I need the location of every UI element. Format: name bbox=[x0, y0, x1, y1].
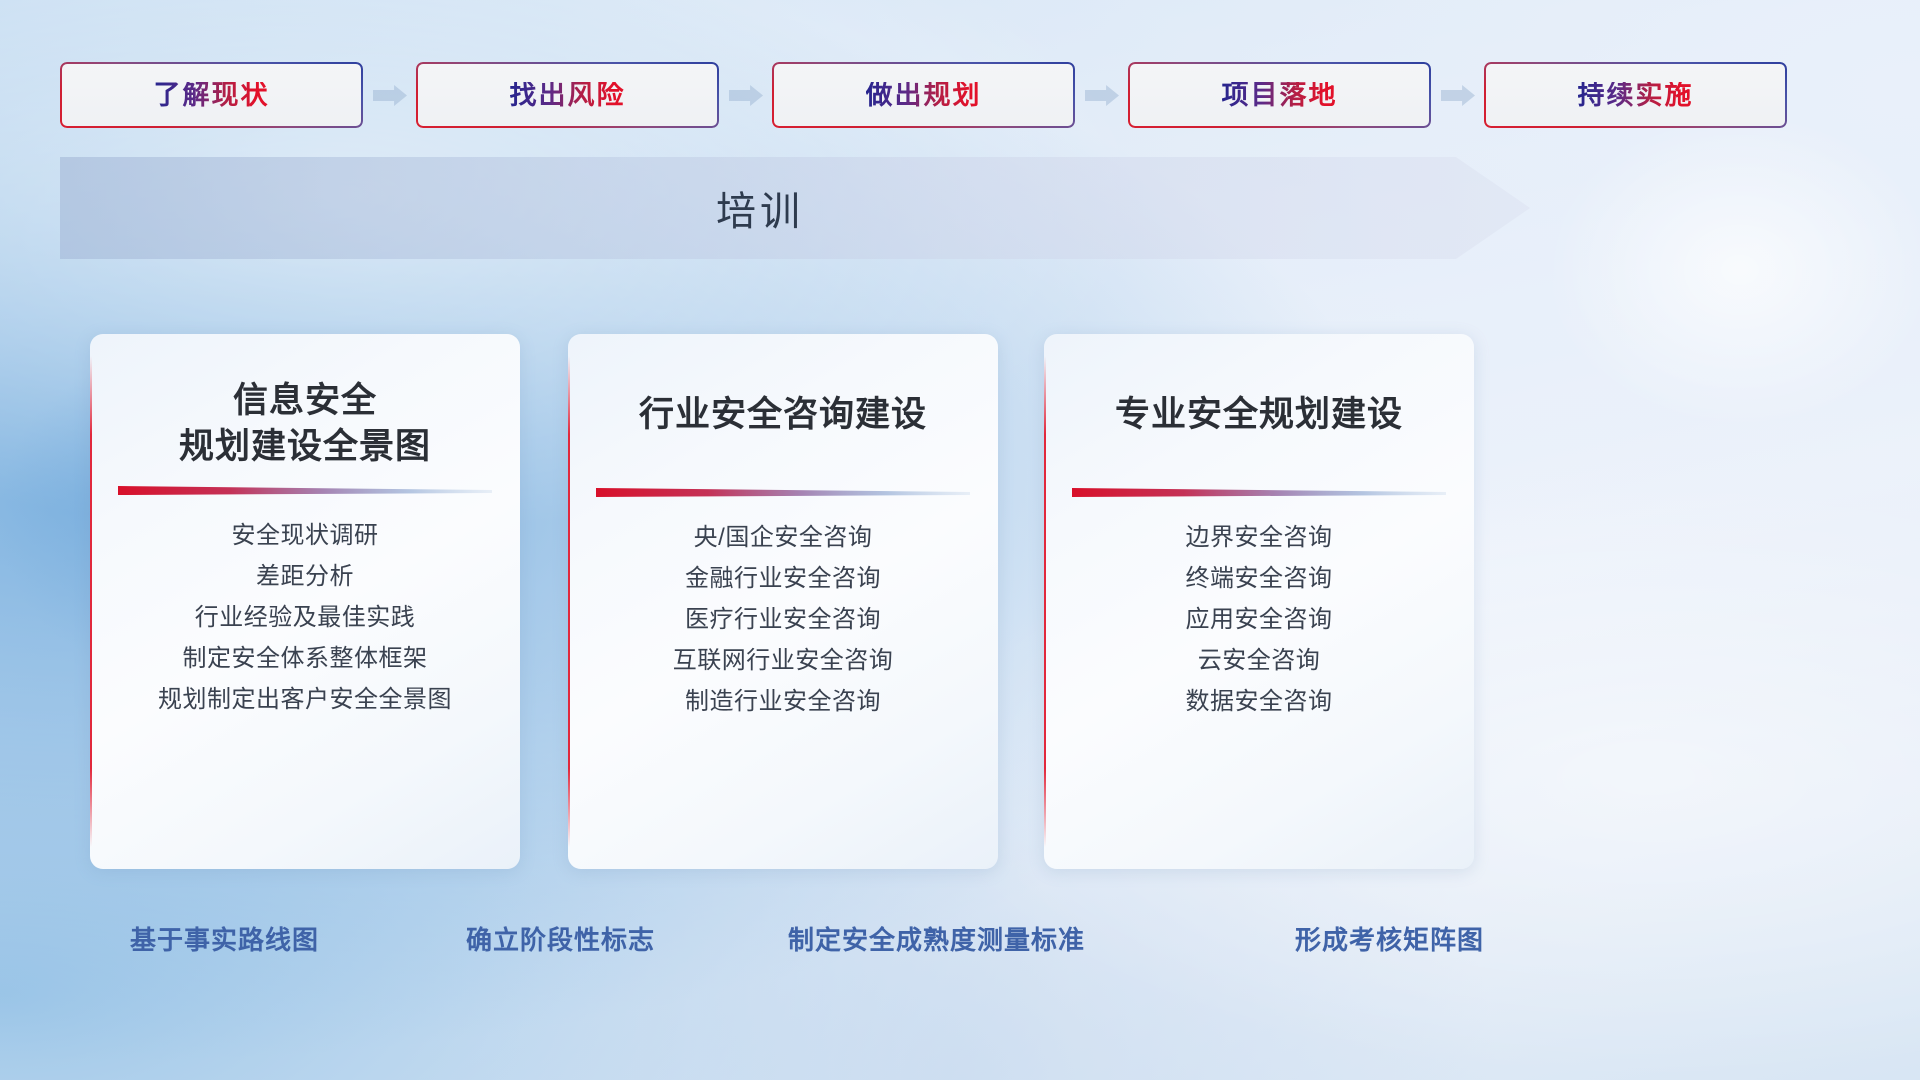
process-step-1[interactable]: 找出风险 bbox=[416, 62, 719, 128]
card-industry-security-consulting[interactable]: 行业安全咨询建设 央/国 bbox=[568, 334, 998, 869]
card-item-list: 安全现状调研 差距分析 行业经验及最佳实践 制定安全体系整体框架 规划制定出客户… bbox=[90, 522, 520, 714]
list-item: 边界安全咨询 bbox=[1186, 524, 1333, 552]
list-item: 行业经验及最佳实践 bbox=[195, 604, 416, 632]
list-item: 医疗行业安全咨询 bbox=[685, 606, 881, 634]
card-title: 行业安全咨询建设 bbox=[568, 392, 998, 438]
step-arrow-icon-2 bbox=[1075, 62, 1128, 128]
process-step-4[interactable]: 持续实施 bbox=[1484, 62, 1787, 128]
list-item: 互联网行业安全咨询 bbox=[673, 647, 894, 675]
card-divider bbox=[118, 484, 492, 500]
step-arrow-icon-1 bbox=[719, 62, 772, 128]
card-divider bbox=[1072, 486, 1446, 502]
training-banner-label: 培训 bbox=[716, 179, 804, 237]
process-step-label: 找出风险 bbox=[510, 82, 626, 109]
process-step-3[interactable]: 项目落地 bbox=[1128, 62, 1431, 128]
caption-row: 基于事实路线图 确立阶段性标志 制定安全成熟度测量标准 形成考核矩阵图 bbox=[0, 920, 1920, 970]
caption-roadmap: 基于事实路线图 bbox=[130, 920, 319, 957]
process-step-2[interactable]: 做出规划 bbox=[772, 62, 1075, 128]
card-title-line-1: 专业安全规划建设 bbox=[1044, 392, 1474, 438]
process-step-row: 了解现状 找出风险 做出规划 项目落地 持续实施 bbox=[60, 62, 1860, 128]
card-information-security-overview[interactable]: 信息安全 规划建设全景图 bbox=[90, 334, 520, 869]
card-title: 信息安全 规划建设全景图 bbox=[90, 378, 520, 470]
card-item-list: 边界安全咨询 终端安全咨询 应用安全咨询 云安全咨询 数据安全咨询 bbox=[1044, 524, 1474, 716]
list-item: 金融行业安全咨询 bbox=[685, 565, 881, 593]
step-arrow-icon-0 bbox=[363, 62, 416, 128]
card-item-list: 央/国企安全咨询 金融行业安全咨询 医疗行业安全咨询 互联网行业安全咨询 制造行… bbox=[568, 524, 998, 716]
card-title: 专业安全规划建设 bbox=[1044, 392, 1474, 438]
process-step-label: 项目落地 bbox=[1222, 82, 1338, 109]
card-row: 信息安全 规划建设全景图 bbox=[0, 334, 1920, 886]
list-item: 制造行业安全咨询 bbox=[685, 688, 881, 716]
list-item: 安全现状调研 bbox=[232, 522, 379, 550]
process-step-0[interactable]: 了解现状 bbox=[60, 62, 363, 128]
list-item: 制定安全体系整体框架 bbox=[183, 645, 428, 673]
card-professional-security-planning[interactable]: 专业安全规划建设 边界安 bbox=[1044, 334, 1474, 869]
process-step-label: 持续实施 bbox=[1578, 82, 1694, 109]
training-banner: 培训 bbox=[60, 157, 1530, 259]
card-title-line-1: 行业安全咨询建设 bbox=[568, 392, 998, 438]
caption-assessment-matrix: 形成考核矩阵图 bbox=[1295, 920, 1484, 957]
process-step-label: 了解现状 bbox=[154, 82, 270, 109]
list-item: 规划制定出客户安全全景图 bbox=[158, 686, 452, 714]
caption-milestones: 确立阶段性标志 bbox=[466, 920, 655, 957]
list-item: 云安全咨询 bbox=[1198, 647, 1321, 675]
list-item: 终端安全咨询 bbox=[1186, 565, 1333, 593]
card-title-line-2: 规划建设全景图 bbox=[90, 424, 520, 470]
list-item: 应用安全咨询 bbox=[1186, 606, 1333, 634]
caption-maturity-standard: 制定安全成熟度测量标准 bbox=[788, 920, 1085, 957]
step-arrow-icon-3 bbox=[1431, 62, 1484, 128]
card-divider bbox=[596, 486, 970, 502]
list-item: 差距分析 bbox=[256, 563, 354, 591]
list-item: 央/国企安全咨询 bbox=[694, 524, 873, 552]
list-item: 数据安全咨询 bbox=[1186, 688, 1333, 716]
infographic-stage: 了解现状 找出风险 做出规划 项目落地 持续实施 培训 信息安全 规划建设全景图 bbox=[0, 0, 1920, 1080]
process-step-label: 做出规划 bbox=[866, 82, 982, 109]
card-title-line-1: 信息安全 bbox=[90, 378, 520, 424]
